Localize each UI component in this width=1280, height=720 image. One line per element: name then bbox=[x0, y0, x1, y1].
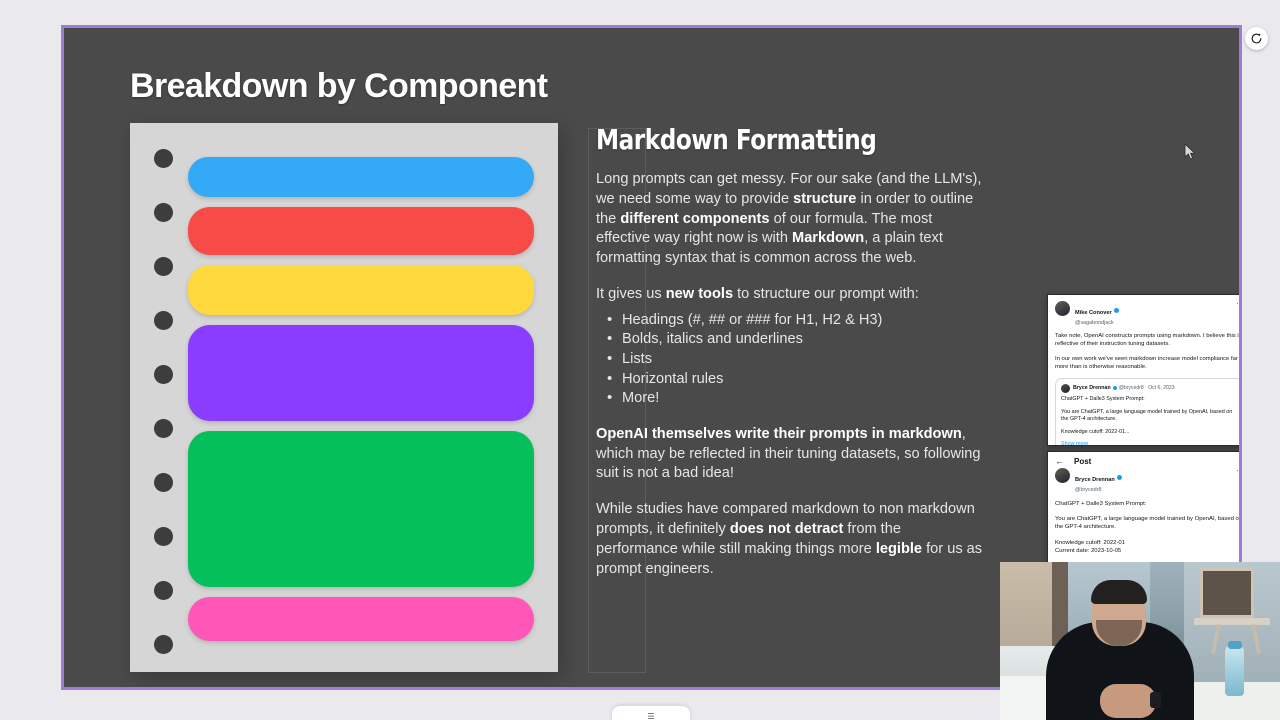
bar-yellow[interactable] bbox=[188, 265, 534, 315]
punch-hole-column bbox=[151, 123, 187, 672]
p2-bold1: OpenAI themselves write their prompts in… bbox=[596, 426, 962, 442]
punch-hole-dot bbox=[154, 203, 173, 222]
punch-hole-dot bbox=[154, 311, 173, 330]
post-author-row: Bryce Drennan @brycedr8 ⋯ bbox=[1055, 468, 1242, 494]
post-line-2: You are ChatGPT, a large language model … bbox=[1055, 515, 1242, 532]
ellipsis-icon[interactable]: ⋯ bbox=[1236, 301, 1242, 308]
list-item[interactable]: Lists bbox=[596, 350, 986, 370]
section-heading[interactable]: Markdown Formatting bbox=[596, 123, 955, 156]
page-title[interactable]: Breakdown by Component bbox=[130, 67, 548, 106]
post-line-3: Knowledge cutoff: 2022-01 bbox=[1055, 539, 1242, 547]
avatar bbox=[1055, 301, 1070, 316]
p3-bold1: does not detract bbox=[730, 521, 844, 537]
punch-hole-dot bbox=[154, 473, 173, 492]
paragraph-intro[interactable]: Long prompts can get messy. For our sake… bbox=[596, 170, 986, 269]
tweet-author-name: Mike Conover bbox=[1075, 310, 1112, 316]
list-item[interactable]: Horizontal rules bbox=[596, 370, 986, 390]
menu-icon: ☰ bbox=[647, 713, 654, 720]
tweet-screenshot-card[interactable]: Mike Conover @vagabondjack ⋯ Take note, … bbox=[1047, 294, 1242, 446]
p1-bold1: structure bbox=[793, 191, 856, 207]
webcam-water-bottle bbox=[1225, 646, 1244, 696]
li-bold1: new tools bbox=[666, 286, 733, 302]
punch-hole-dot bbox=[154, 527, 173, 546]
li-part2: to structure our prompt with: bbox=[733, 286, 919, 302]
post-line-4: Current date: 2023-10-05 bbox=[1055, 547, 1242, 555]
webcam-presenter-watch bbox=[1150, 692, 1161, 708]
post-header: ← Post bbox=[1048, 452, 1242, 468]
p3-bold2: legible bbox=[876, 541, 922, 557]
presenter-webcam[interactable] bbox=[1000, 562, 1280, 720]
quote-date: Oct 6, 2023 bbox=[1148, 385, 1174, 391]
verified-badge-icon bbox=[1113, 386, 1117, 390]
show-more-link[interactable]: Show more bbox=[1061, 441, 1088, 446]
bar-red[interactable] bbox=[188, 207, 534, 255]
refresh-sparkle-icon[interactable] bbox=[1245, 27, 1268, 50]
p1-bold2: different components bbox=[620, 211, 769, 227]
verified-badge-icon bbox=[1114, 308, 1119, 313]
quote-author-name: Bryce Drennan bbox=[1073, 385, 1111, 391]
list-item[interactable]: More! bbox=[596, 389, 986, 409]
post-title: Post bbox=[1074, 457, 1091, 466]
arrow-left-icon[interactable]: ← bbox=[1055, 457, 1064, 466]
webcam-bottle-cap bbox=[1228, 641, 1242, 649]
markdown-feature-list[interactable]: Headings (#, ## or ### for H1, H2 & H3) … bbox=[596, 311, 986, 409]
post-author-name: Bryce Drennan bbox=[1075, 477, 1115, 483]
bar-pink[interactable] bbox=[188, 597, 534, 641]
tweet-header: Mike Conover @vagabondjack ⋯ bbox=[1055, 301, 1242, 327]
content-column[interactable]: Markdown Formatting Long prompts can get… bbox=[596, 123, 986, 595]
post-author-handle: @brycedr8 bbox=[1075, 487, 1236, 493]
tweet-body-line-1: Take note, OpenAI constructs prompts usi… bbox=[1055, 332, 1242, 349]
punch-hole-dot bbox=[154, 581, 173, 600]
quote-author-handle: @brycedr8 bbox=[1119, 385, 1144, 391]
verified-badge-icon bbox=[1117, 475, 1122, 480]
p1-bold3: Markdown bbox=[792, 230, 864, 246]
punch-hole-dot bbox=[154, 365, 173, 384]
color-bar-stack bbox=[188, 123, 534, 672]
post-line-1: ChatGPT + Dalle3 System Prompt: bbox=[1055, 500, 1242, 508]
bar-green[interactable] bbox=[188, 431, 534, 587]
webcam-presenter-hair bbox=[1091, 580, 1147, 604]
bottom-toolbar-peek[interactable]: ☰ bbox=[612, 706, 690, 720]
quoted-tweet[interactable]: Bryce Drennan@brycedr8 · Oct 6, 2023 Cha… bbox=[1055, 378, 1242, 446]
list-item[interactable]: Headings (#, ## or ### for H1, H2 & H3) bbox=[596, 311, 986, 331]
li-part1: It gives us bbox=[596, 286, 666, 302]
presentation-editor: Breakdown by Component Markdown Formatti… bbox=[0, 0, 1280, 720]
punch-hole-dot bbox=[154, 257, 173, 276]
paragraph-openai[interactable]: OpenAI themselves write their prompts in… bbox=[596, 425, 986, 484]
punch-hole-dot bbox=[154, 149, 173, 168]
webcam-room-background bbox=[1000, 562, 1280, 720]
mouse-pointer-icon bbox=[1184, 143, 1196, 161]
webcam-presenter-hands bbox=[1100, 684, 1156, 718]
punch-hole-dot bbox=[154, 419, 173, 438]
webcam-mirror bbox=[1200, 568, 1254, 618]
tweet-body: Take note, OpenAI constructs prompts usi… bbox=[1055, 332, 1242, 372]
tweet-body-line-2: In our own work we've seen markdown incr… bbox=[1055, 355, 1242, 372]
bar-purple[interactable] bbox=[188, 325, 534, 421]
punch-hole-dot bbox=[154, 635, 173, 654]
webcam-console-table bbox=[1194, 618, 1270, 625]
tweet-author-handle: @vagabondjack bbox=[1075, 320, 1236, 326]
bar-blue[interactable] bbox=[188, 157, 534, 197]
ellipsis-icon[interactable]: ⋯ bbox=[1236, 468, 1242, 475]
paragraph-studies[interactable]: While studies have compared markdown to … bbox=[596, 500, 986, 579]
paragraph-list-intro[interactable]: It gives us new tools to structure our p… bbox=[596, 285, 986, 305]
quote-line-3: Knowledge cutoff: 2022-01... bbox=[1061, 429, 1238, 437]
list-item[interactable]: Bolds, italics and underlines bbox=[596, 330, 986, 350]
notebook-illustration[interactable] bbox=[130, 123, 558, 672]
quote-line-1: ChatGPT + Dalle3 System Prompt: bbox=[1061, 396, 1238, 404]
quote-line-2: You are ChatGPT, a large language model … bbox=[1061, 409, 1238, 424]
avatar bbox=[1055, 468, 1070, 483]
avatar bbox=[1061, 384, 1070, 393]
